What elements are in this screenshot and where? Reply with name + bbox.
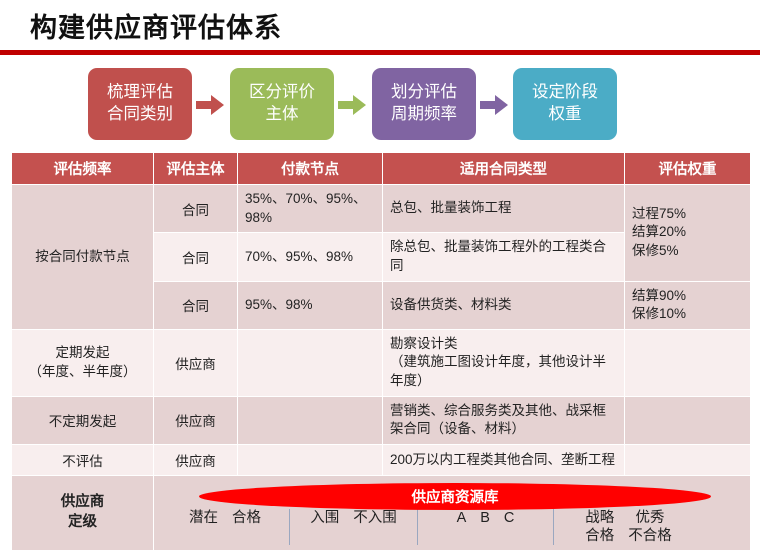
- table-row: 不评估 供应商 200万以内工程类其他合同、垄断工程: [12, 444, 751, 475]
- flow-step-divide-evaluation-cycle[interactable]: 划分评估 周期频率: [372, 68, 476, 140]
- supplier-resource-pool-label: 供应商资源库: [412, 486, 499, 507]
- cell-payment-node-r6: [238, 444, 383, 475]
- column-header-frequency: 评估频率: [12, 153, 154, 185]
- grade-group-shortlist: 入围 不入围: [289, 509, 417, 545]
- cell-subject-r5: 供应商: [154, 396, 238, 444]
- column-header-payment-node: 付款节点: [238, 153, 383, 185]
- cell-payment-node-r5: [238, 396, 383, 444]
- flow-step-set-stage-weight[interactable]: 设定阶段 权重: [513, 68, 617, 140]
- grade-item[interactable]: B: [473, 510, 497, 528]
- cell-subject-r3: 合同: [154, 281, 238, 329]
- cell-contract-type-r4: 勘察设计类 （建筑施工图设计年度，其他设计半年度）: [383, 329, 625, 396]
- title-area: 构建供应商评估体系: [0, 0, 760, 52]
- flow-arrow-icon-3: [480, 95, 508, 115]
- grade-item[interactable]: 优秀 不合格: [621, 510, 679, 545]
- cell-weight-r6: [625, 444, 751, 475]
- flow-step-label: 划分评估 周期频率: [391, 82, 457, 126]
- cell-weight-r5: [625, 396, 751, 444]
- cell-contract-type-r3: 设备供货类、材料类: [383, 281, 625, 329]
- cell-frequency-no-evaluation: 不评估: [12, 444, 154, 475]
- column-header-weight: 评估权重: [625, 153, 751, 185]
- flow-arrow-icon-2: [338, 95, 366, 115]
- grade-group-strategic-excellent: 战略 合格 优秀 不合格: [553, 509, 703, 545]
- grade-item[interactable]: A: [450, 510, 474, 528]
- table-row: 不定期发起 供应商 营销类、综合服务类及其他、战采框架合同（设备、材料）: [12, 396, 751, 444]
- table-row: 按合同付款节点 合同 35%、70%、95%、98% 总包、批量装饰工程 过程7…: [12, 185, 751, 233]
- cell-payment-node-r3: 95%、98%: [238, 281, 383, 329]
- supplier-resource-pool-badge[interactable]: 供应商资源库: [199, 483, 711, 510]
- cell-supplier-grading-band: 供应商资源库 潜在 合格 入围 不入围 A B: [154, 475, 751, 550]
- cell-frequency-irregular: 不定期发起: [12, 396, 154, 444]
- page-title: 构建供应商评估体系: [30, 6, 282, 45]
- cell-payment-node-r4: [238, 329, 383, 396]
- grade-item[interactable]: 合格: [225, 510, 268, 528]
- grade-item[interactable]: 入围: [303, 510, 346, 528]
- table-row-supplier-grading: 供应商 定级 供应商资源库 潜在 合格 入围 不入围: [12, 475, 751, 550]
- grade-group-potential-qualified: 潜在 合格: [161, 509, 289, 545]
- cell-payment-node-r1: 35%、70%、95%、98%: [238, 185, 383, 233]
- grade-item[interactable]: C: [497, 510, 521, 528]
- title-underline-rule: [0, 50, 760, 55]
- grade-item[interactable]: 战略 合格: [578, 510, 621, 545]
- flow-step-label: 设定阶段 权重: [532, 82, 598, 126]
- flow-step-label: 梳理评估 合同类别: [107, 82, 173, 126]
- cell-subject-r1: 合同: [154, 185, 238, 233]
- grade-item[interactable]: 不入围: [346, 510, 404, 528]
- table-header-row: 评估频率 评估主体 付款节点 适用合同类型 评估权重: [12, 153, 751, 185]
- cell-subject-r2: 合同: [154, 233, 238, 281]
- table-row: 定期发起 （年度、半年度） 供应商 勘察设计类 （建筑施工图设计年度，其他设计半…: [12, 329, 751, 396]
- cell-subject-r4: 供应商: [154, 329, 238, 396]
- cell-supplier-grading-label: 供应商 定级: [12, 475, 154, 550]
- cell-frequency-contract-payment-node: 按合同付款节点: [12, 185, 154, 330]
- grading-band-inner: 供应商资源库 潜在 合格 入围 不入围 A B: [161, 481, 743, 545]
- flow-step-sort-contract-categories[interactable]: 梳理评估 合同类别: [88, 68, 192, 140]
- cell-weight-r1-r2: 过程75% 结算20% 保修5%: [625, 185, 751, 282]
- grade-group-abc: A B C: [417, 509, 553, 545]
- cell-subject-r6: 供应商: [154, 444, 238, 475]
- flow-arrow-icon-1: [196, 95, 224, 115]
- process-flow-diagram: 梳理评估 合同类别 区分评价 主体 划分评估 周期频率 设定阶段 权重: [0, 62, 760, 148]
- cell-contract-type-r2: 除总包、批量装饰工程外的工程类合同: [383, 233, 625, 281]
- supplier-evaluation-table: 评估频率 评估主体 付款节点 适用合同类型 评估权重 按合同付款节点 合同 35…: [11, 152, 751, 551]
- cell-payment-node-r2: 70%、95%、98%: [238, 233, 383, 281]
- grade-group-list: 潜在 合格 入围 不入围 A B C 战略 合格: [161, 509, 743, 545]
- flow-step-distinguish-evaluation-subject[interactable]: 区分评价 主体: [230, 68, 334, 140]
- column-header-contract-type: 适用合同类型: [383, 153, 625, 185]
- cell-contract-type-r1: 总包、批量装饰工程: [383, 185, 625, 233]
- flow-step-label: 区分评价 主体: [249, 82, 315, 126]
- cell-contract-type-r6: 200万以内工程类其他合同、垄断工程: [383, 444, 625, 475]
- cell-weight-r3: 结算90% 保修10%: [625, 281, 751, 329]
- cell-contract-type-r5: 营销类、综合服务类及其他、战采框架合同（设备、材料）: [383, 396, 625, 444]
- cell-weight-r4: [625, 329, 751, 396]
- cell-frequency-periodic: 定期发起 （年度、半年度）: [12, 329, 154, 396]
- grade-item[interactable]: 潜在: [182, 510, 225, 528]
- column-header-subject: 评估主体: [154, 153, 238, 185]
